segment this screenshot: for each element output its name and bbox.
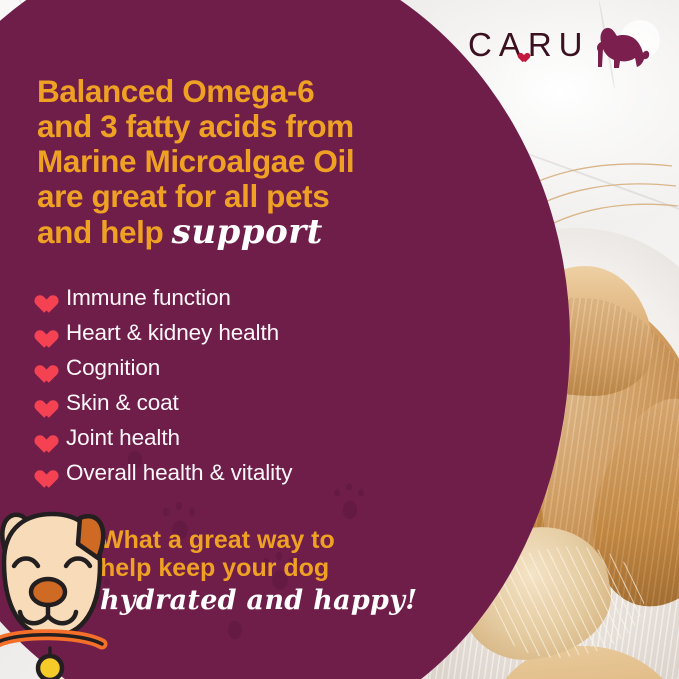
closing-line-1: What a great way to [100, 526, 400, 554]
heart-icon [31, 288, 52, 307]
promo-banner: Balanced Omega-6 and 3 fatty acids from … [0, 0, 679, 679]
list-item-label: Overall health & vitality [66, 460, 292, 486]
headline-line-3: Marine Microalgae Oil [37, 144, 437, 179]
dog-silhouette-icon [589, 24, 651, 70]
headline-line-2: and 3 fatty acids from [37, 109, 437, 144]
list-item-label: Skin & coat [66, 390, 179, 416]
cartoon-dog-tag [38, 656, 62, 679]
closing-line-2: help keep your dog [100, 554, 400, 582]
list-item: Joint health [31, 421, 421, 454]
headline-script-word: support [172, 212, 323, 252]
cartoon-dog-illustration [0, 496, 123, 679]
brand-logo[interactable]: CARU [468, 22, 648, 74]
heart-icon [515, 49, 526, 59]
headline-line-1: Balanced Omega-6 [37, 74, 437, 109]
headline-line-5: and help support [37, 214, 437, 252]
headline-line-5-prefix: and help [37, 214, 163, 250]
headline: Balanced Omega-6 and 3 fatty acids from … [37, 74, 437, 252]
benefits-list: Immune function Heart & kidney health Co… [31, 281, 421, 491]
headline-line-4: are great for all pets [37, 179, 437, 214]
list-item-label: Immune function [66, 285, 231, 311]
list-item-label: Cognition [66, 355, 160, 381]
list-item: Heart & kidney health [31, 316, 421, 349]
heart-icon [31, 463, 52, 482]
list-item: Cognition [31, 351, 421, 384]
heart-icon [31, 393, 52, 412]
list-item: Skin & coat [31, 386, 421, 419]
heart-icon [31, 358, 52, 377]
list-item: Overall health & vitality [31, 456, 421, 489]
list-item-label: Heart & kidney health [66, 320, 279, 346]
closing-message: What a great way to help keep your dog h… [100, 526, 400, 616]
heart-icon [31, 323, 52, 342]
list-item-label: Joint health [66, 425, 180, 451]
cartoon-dog-nose [31, 579, 65, 605]
closing-script-line: hydrated and happy! [100, 585, 400, 616]
list-item: Immune function [31, 281, 421, 314]
heart-icon [31, 428, 52, 447]
